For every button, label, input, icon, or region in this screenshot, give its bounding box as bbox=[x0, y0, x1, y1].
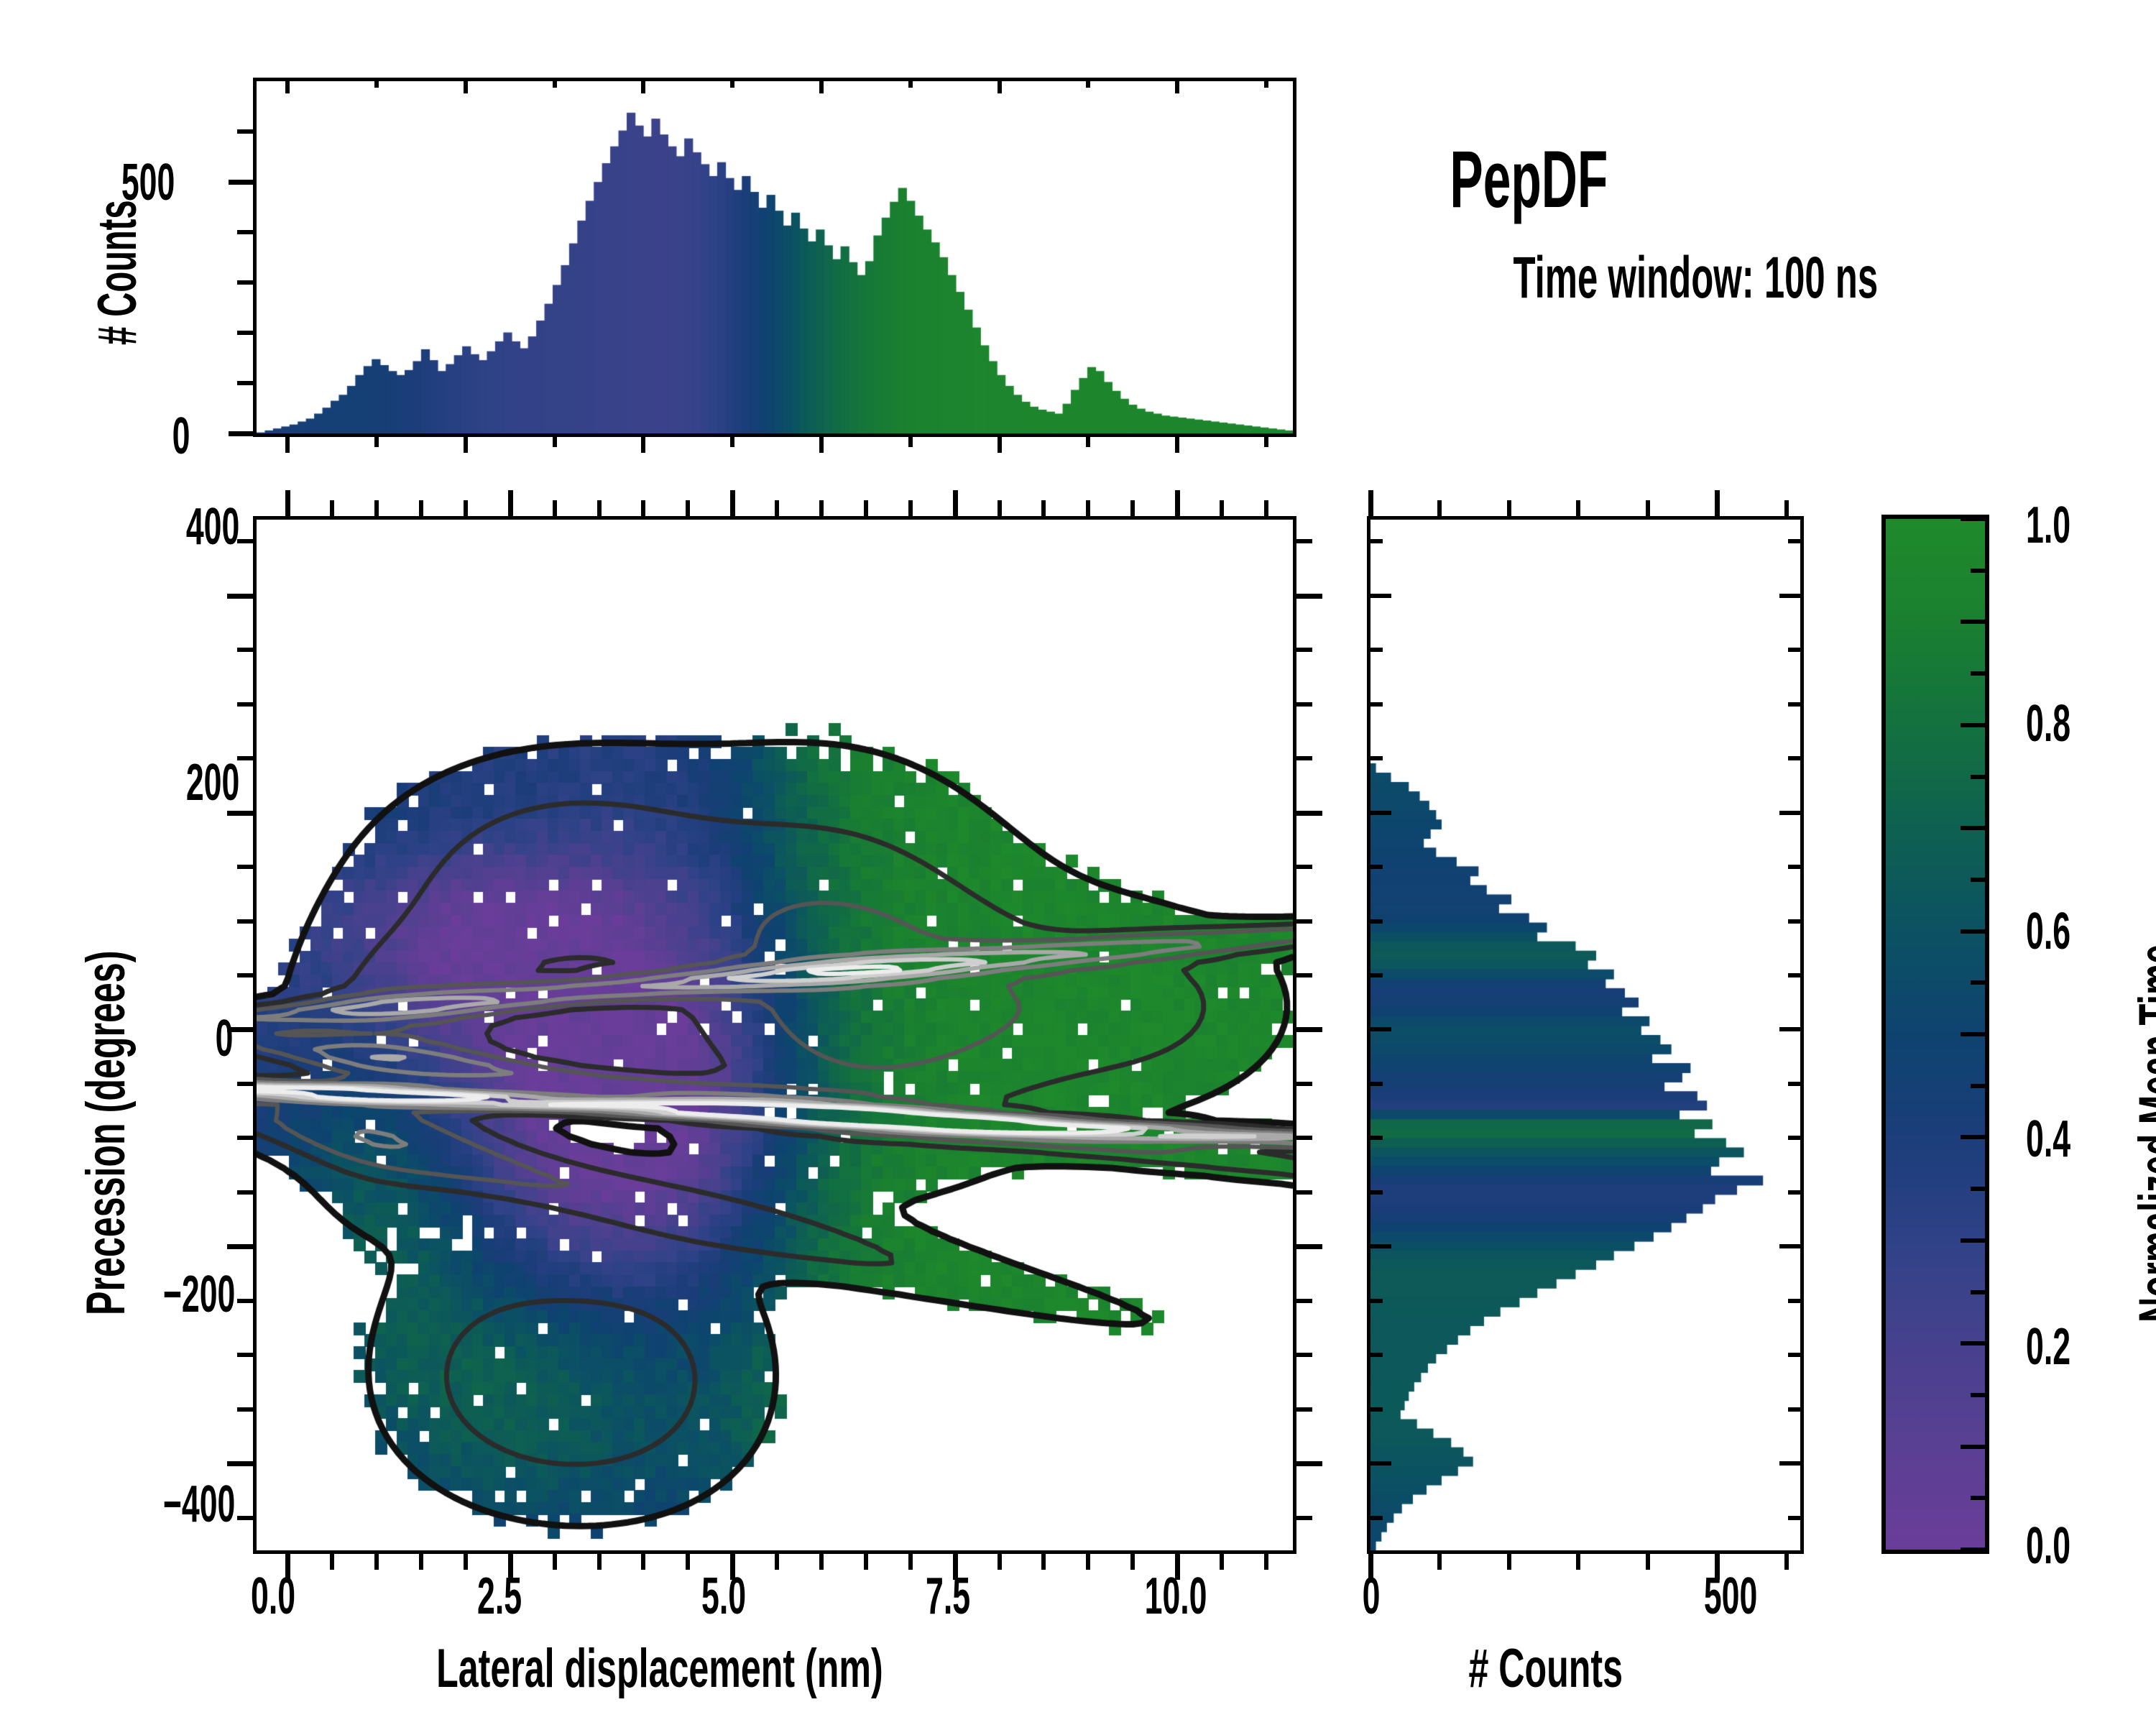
axis-tick bbox=[1961, 1341, 1989, 1345]
axis-tick bbox=[553, 500, 557, 516]
axis-tick bbox=[1367, 1353, 1383, 1357]
axis-tick bbox=[775, 500, 779, 516]
axis-tick bbox=[998, 78, 1002, 93]
main-ytick-neg400: −400 bbox=[141, 1475, 257, 1534]
main-ytick-0: 0 bbox=[210, 1009, 239, 1068]
axis-tick bbox=[1715, 490, 1720, 516]
axis-tick bbox=[285, 437, 290, 453]
axis-tick bbox=[908, 78, 913, 88]
axis-tick bbox=[237, 648, 253, 652]
main-xtick-7p5: 7.5 bbox=[912, 1567, 984, 1626]
colorbar-tick-1p0: 1.0 bbox=[2012, 496, 2084, 555]
axis-tick bbox=[464, 78, 468, 93]
axis-tick bbox=[1367, 811, 1391, 815]
axis-tick bbox=[1507, 1554, 1511, 1570]
axis-tick bbox=[1367, 865, 1383, 869]
axis-tick bbox=[1367, 702, 1383, 707]
axis-tick bbox=[285, 78, 290, 93]
axis-tick bbox=[908, 437, 913, 447]
axis-tick bbox=[1367, 1516, 1383, 1520]
axis-tick bbox=[998, 437, 1002, 453]
axis-tick bbox=[464, 500, 468, 516]
axis-tick bbox=[1367, 756, 1383, 760]
axis-tick bbox=[953, 490, 958, 516]
axis-tick bbox=[1576, 500, 1580, 516]
axis-tick bbox=[1971, 775, 1989, 779]
axis-tick bbox=[237, 1082, 253, 1086]
axis-tick bbox=[597, 500, 602, 516]
axis-tick bbox=[1296, 865, 1312, 869]
axis-tick bbox=[1367, 1407, 1383, 1412]
axis-tick bbox=[1296, 1244, 1322, 1249]
axis-tick bbox=[1961, 929, 1989, 934]
axis-tick bbox=[1971, 569, 1989, 573]
axis-tick bbox=[374, 78, 379, 88]
right-xtick-0: 0 bbox=[1357, 1567, 1386, 1626]
axis-tick bbox=[1367, 973, 1383, 977]
right-histogram-plot bbox=[1370, 520, 1800, 1550]
axis-tick bbox=[819, 1554, 824, 1570]
main-xtick-0: 0.0 bbox=[237, 1567, 309, 1626]
figure-subtitle: Time window: 100 ns bbox=[1401, 244, 1990, 312]
axis-tick bbox=[1437, 1554, 1442, 1570]
axis-tick bbox=[819, 500, 824, 516]
axis-tick bbox=[1130, 500, 1135, 516]
axis-tick bbox=[553, 78, 557, 88]
axis-tick bbox=[1788, 1190, 1804, 1195]
axis-tick bbox=[1296, 756, 1312, 760]
axis-tick bbox=[1788, 1353, 1804, 1357]
right-marginal-histogram-axes bbox=[1367, 516, 1804, 1554]
axis-tick bbox=[553, 437, 557, 447]
axis-tick bbox=[1367, 1299, 1383, 1303]
top-marginal-histogram-axes bbox=[253, 78, 1296, 437]
axis-tick bbox=[1367, 1244, 1391, 1248]
axis-tick bbox=[775, 1554, 779, 1570]
axis-tick bbox=[1779, 594, 1804, 598]
axis-tick bbox=[1961, 1547, 1989, 1552]
axis-tick bbox=[237, 919, 253, 924]
axis-tick bbox=[1220, 500, 1224, 516]
axis-tick bbox=[1779, 1027, 1804, 1031]
axis-tick bbox=[1784, 500, 1789, 516]
axis-tick bbox=[1788, 756, 1804, 760]
axis-tick bbox=[237, 129, 253, 134]
axis-tick bbox=[1788, 1407, 1804, 1412]
axis-tick bbox=[1086, 1554, 1090, 1570]
axis-tick bbox=[819, 437, 824, 453]
main-heatmap-axes bbox=[253, 516, 1296, 1554]
axis-tick bbox=[237, 1136, 253, 1140]
axis-tick bbox=[641, 78, 645, 93]
axis-tick bbox=[1961, 1238, 1989, 1243]
axis-tick bbox=[1961, 1135, 1989, 1139]
axis-tick bbox=[1961, 1445, 1989, 1449]
axis-tick bbox=[1367, 919, 1383, 924]
axis-tick bbox=[819, 78, 824, 93]
axis-tick bbox=[374, 500, 379, 516]
axis-tick bbox=[237, 280, 253, 285]
axis-tick bbox=[1961, 620, 1989, 624]
axis-tick bbox=[1646, 1554, 1650, 1570]
axis-tick bbox=[229, 431, 253, 436]
axis-tick bbox=[237, 702, 253, 707]
colorbar-tick-0p6: 0.6 bbox=[2012, 902, 2084, 961]
axis-tick bbox=[237, 973, 253, 977]
axis-tick bbox=[1788, 919, 1804, 924]
axis-tick bbox=[237, 331, 253, 335]
axis-tick bbox=[1971, 671, 1989, 676]
right-histogram-xlabel: # Counts bbox=[1468, 1637, 1623, 1700]
axis-tick bbox=[1367, 594, 1391, 598]
axis-tick bbox=[1296, 1027, 1322, 1032]
axis-tick bbox=[1971, 1187, 1989, 1191]
axis-tick bbox=[1175, 490, 1180, 516]
axis-tick bbox=[1296, 811, 1322, 816]
axis-tick bbox=[1437, 500, 1442, 516]
axis-tick bbox=[237, 230, 253, 234]
axis-tick bbox=[1367, 539, 1383, 543]
axis-tick bbox=[374, 437, 379, 447]
axis-tick bbox=[1264, 78, 1268, 88]
axis-tick bbox=[730, 490, 735, 516]
axis-tick bbox=[1296, 1516, 1312, 1520]
heatmap-image bbox=[257, 520, 1293, 1550]
main-xtick-10: 10.0 bbox=[1125, 1567, 1226, 1626]
axis-tick bbox=[641, 1554, 645, 1570]
axis-tick bbox=[553, 1554, 557, 1570]
axis-tick bbox=[1041, 1554, 1046, 1570]
main-ylabel: Precession (degrees) bbox=[75, 951, 137, 1315]
axis-tick bbox=[1367, 648, 1383, 652]
axis-tick bbox=[1788, 702, 1804, 707]
axis-tick bbox=[1961, 517, 1989, 521]
colorbar-tick-0p0: 0.0 bbox=[2012, 1517, 2084, 1575]
axis-tick bbox=[864, 1554, 868, 1570]
axis-tick bbox=[1296, 648, 1312, 652]
axis-tick bbox=[1646, 500, 1650, 516]
colorbar-tick-0p4: 0.4 bbox=[2012, 1110, 2084, 1169]
axis-tick bbox=[1367, 1190, 1383, 1195]
axis-tick bbox=[998, 500, 1002, 516]
axis-tick bbox=[1175, 78, 1179, 93]
axis-tick bbox=[1788, 648, 1804, 652]
axis-tick bbox=[1779, 811, 1804, 815]
axis-tick bbox=[1971, 878, 1989, 882]
axis-tick bbox=[864, 500, 868, 516]
top-histogram-plot bbox=[257, 81, 1293, 433]
axis-tick bbox=[374, 1554, 379, 1570]
axis-tick bbox=[597, 1554, 602, 1570]
axis-tick bbox=[1296, 539, 1312, 543]
top-histogram-ylabel: # Counts bbox=[86, 200, 149, 345]
axis-tick bbox=[237, 1190, 253, 1195]
axis-tick bbox=[1296, 594, 1322, 599]
axis-tick bbox=[1788, 1516, 1804, 1520]
axis-tick bbox=[1367, 1027, 1391, 1031]
axis-tick bbox=[1961, 826, 1989, 830]
axis-tick bbox=[1296, 1461, 1322, 1466]
axis-tick bbox=[1296, 973, 1312, 977]
axis-tick bbox=[227, 594, 253, 599]
main-xtick-2p5: 2.5 bbox=[464, 1567, 535, 1626]
axis-tick bbox=[1368, 490, 1373, 516]
axis-tick bbox=[1086, 78, 1090, 88]
main-xlabel: Lateral displacement (nm) bbox=[436, 1637, 883, 1700]
axis-tick bbox=[1296, 1082, 1312, 1086]
axis-tick bbox=[1788, 973, 1804, 977]
axis-tick bbox=[330, 1554, 334, 1570]
axis-tick bbox=[1971, 1290, 1989, 1294]
axis-tick bbox=[1788, 1136, 1804, 1140]
axis-tick bbox=[686, 500, 690, 516]
axis-tick bbox=[237, 1407, 253, 1412]
axis-tick bbox=[237, 381, 253, 385]
axis-tick bbox=[1507, 500, 1511, 516]
axis-tick bbox=[1086, 500, 1090, 516]
main-ytick-neg200: −200 bbox=[141, 1265, 257, 1324]
axis-tick bbox=[1296, 1190, 1312, 1195]
axis-tick bbox=[1971, 1393, 1989, 1397]
axis-tick bbox=[464, 437, 468, 453]
axis-tick bbox=[419, 500, 423, 516]
axis-tick bbox=[508, 490, 513, 516]
axis-tick bbox=[285, 490, 290, 516]
axis-tick bbox=[1367, 1461, 1391, 1466]
axis-tick bbox=[227, 1461, 253, 1466]
axis-tick bbox=[908, 500, 913, 516]
figure-title: PepDF bbox=[1401, 133, 1657, 226]
axis-tick bbox=[1175, 437, 1179, 453]
axis-tick bbox=[1788, 539, 1804, 543]
axis-tick bbox=[237, 865, 253, 869]
axis-tick bbox=[1961, 723, 1989, 727]
top-ytick-0: 0 bbox=[167, 407, 195, 466]
axis-tick bbox=[1961, 1032, 1989, 1036]
axis-tick bbox=[998, 1554, 1002, 1570]
axis-tick bbox=[1296, 702, 1312, 707]
axis-tick bbox=[1367, 1136, 1383, 1140]
axis-tick bbox=[1264, 1554, 1268, 1570]
axis-tick bbox=[1086, 437, 1090, 447]
axis-tick bbox=[419, 1554, 423, 1570]
axis-tick bbox=[1971, 1084, 1989, 1088]
axis-tick bbox=[1784, 1554, 1789, 1570]
axis-tick bbox=[1788, 865, 1804, 869]
main-ytick-400: 400 bbox=[170, 497, 256, 556]
colorbar-label: Normalized Mean Time bbox=[2127, 944, 2156, 1322]
right-xtick-500: 500 bbox=[1687, 1567, 1774, 1626]
figure-root: PepDF Time window: 100 ns 0 500 # Counts… bbox=[0, 0, 2156, 1725]
axis-tick bbox=[730, 437, 734, 447]
main-ytick-200: 200 bbox=[170, 753, 256, 812]
axis-tick bbox=[1779, 1244, 1804, 1248]
axis-tick bbox=[641, 500, 645, 516]
axis-tick bbox=[1264, 437, 1268, 447]
axis-tick bbox=[1576, 1554, 1580, 1570]
axis-tick bbox=[1296, 1353, 1312, 1357]
axis-tick bbox=[1264, 500, 1268, 516]
axis-tick bbox=[730, 78, 734, 88]
axis-tick bbox=[1296, 1299, 1312, 1303]
axis-tick bbox=[1296, 919, 1312, 924]
axis-tick bbox=[1788, 1082, 1804, 1086]
colorbar-tick-0p8: 0.8 bbox=[2012, 694, 2084, 753]
axis-tick bbox=[1041, 500, 1046, 516]
axis-tick bbox=[1296, 1136, 1312, 1140]
axis-tick bbox=[1367, 1082, 1383, 1086]
axis-tick bbox=[1971, 980, 1989, 985]
axis-tick bbox=[641, 437, 645, 453]
axis-tick bbox=[330, 500, 334, 516]
axis-tick bbox=[1971, 1496, 1989, 1500]
main-xtick-5: 5.0 bbox=[688, 1567, 760, 1626]
axis-tick bbox=[229, 180, 253, 185]
axis-tick bbox=[1788, 1299, 1804, 1303]
axis-tick bbox=[237, 1353, 253, 1357]
axis-tick bbox=[1779, 1461, 1804, 1466]
axis-tick bbox=[227, 1244, 253, 1249]
colorbar-tick-0p2: 0.2 bbox=[2012, 1317, 2084, 1376]
axis-tick bbox=[1296, 1407, 1312, 1412]
